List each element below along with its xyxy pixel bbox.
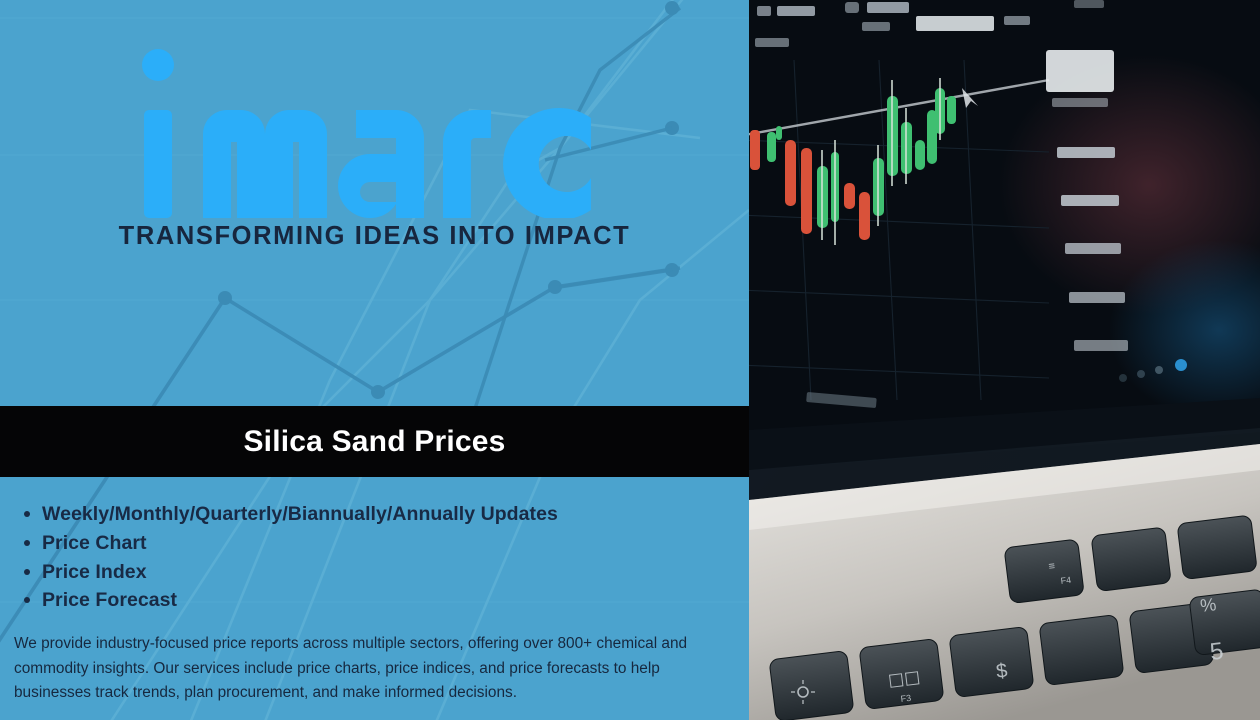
screen-price-badge — [916, 16, 994, 31]
bullet-icon — [24, 511, 30, 517]
svg-text:☐☐: ☐☐ — [887, 668, 921, 692]
bullet-icon — [24, 540, 30, 546]
list-item: Price Chart — [42, 529, 742, 558]
feature-label: Price Chart — [42, 532, 147, 554]
photo-illustration: ☐☐ F3 $ ≡ F4 % 5 — [749, 0, 1260, 720]
feature-label: Price Index — [42, 561, 147, 583]
title-banner: Silica Sand Prices — [0, 406, 749, 477]
feature-list: Weekly/Monthly/Quarterly/Biannually/Annu… — [0, 500, 742, 615]
feature-label: Price Forecast — [42, 589, 177, 611]
svg-text:F4: F4 — [1060, 575, 1072, 586]
price-report-banner: TRANSFORMING IDEAS INTO IMPACT Silica Sa… — [0, 0, 1260, 720]
description-paragraph: We provide industry-focused price report… — [14, 632, 736, 706]
list-item: Price Index — [42, 558, 742, 587]
screen-change-label — [1004, 16, 1030, 25]
brand-logo-block: TRANSFORMING IDEAS INTO IMPACT — [0, 38, 749, 251]
brand-tagline: TRANSFORMING IDEAS INTO IMPACT — [0, 222, 749, 251]
left-info-panel: TRANSFORMING IDEAS INTO IMPACT Silica Sa… — [0, 0, 749, 720]
svg-text:F3: F3 — [900, 693, 912, 704]
price-highlight-box — [1046, 50, 1114, 92]
laptop-trading-photo: ☐☐ F3 $ ≡ F4 % 5 — [749, 0, 1260, 720]
imarc-logo-icon — [125, 38, 625, 218]
list-item: Price Forecast — [42, 586, 742, 615]
page-title: Silica Sand Prices — [243, 425, 505, 459]
bullet-icon — [24, 569, 30, 575]
bullet-icon — [24, 597, 30, 603]
list-item: Weekly/Monthly/Quarterly/Biannually/Annu… — [42, 500, 742, 529]
feature-label: Weekly/Monthly/Quarterly/Biannually/Annu… — [42, 503, 558, 525]
svg-text:%: % — [1199, 594, 1217, 616]
